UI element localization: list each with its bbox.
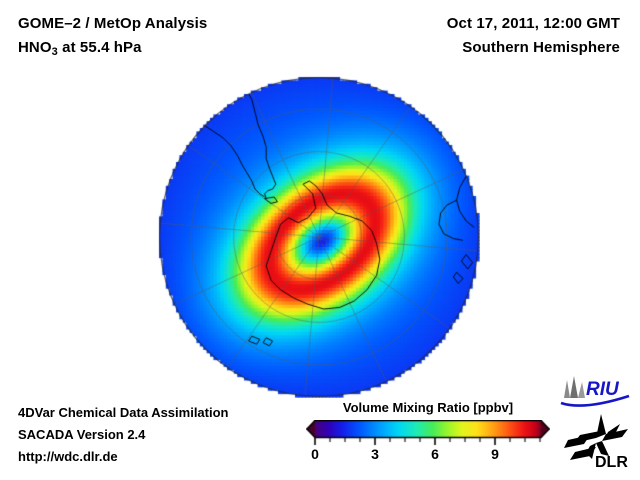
colorbar-tick-labels: 0369 [306, 446, 550, 468]
header-right-block: Oct 17, 2011, 12:00 GMT Southern Hemisph… [290, 12, 620, 60]
timestamp-label: Oct 17, 2011, 12:00 GMT [290, 12, 620, 36]
riu-logo: RIU [558, 374, 632, 408]
colorbar-tick-9: 9 [491, 446, 499, 462]
colorbar-tick-6: 6 [431, 446, 439, 462]
dlr-logo-icon: DLR [562, 412, 632, 470]
species-name: HNO [18, 39, 52, 56]
dlr-logo: DLR [562, 412, 632, 470]
colorbar-gradient [306, 420, 550, 446]
polar-map [158, 76, 480, 398]
riu-wordmark: RIU [586, 379, 620, 400]
polar-map-canvas [158, 76, 480, 398]
species-subscript: 3 [52, 46, 58, 58]
method-label: 4DVar Chemical Data Assimilation [18, 402, 318, 424]
colorbar-title: Volume Mixing Ratio [ppbv] [306, 400, 550, 415]
hemisphere-label: Southern Hemisphere [290, 36, 620, 60]
riu-logo-icon: RIU [558, 374, 632, 408]
dlr-wordmark: DLR [595, 454, 628, 470]
colorbar-tick-0: 0 [311, 446, 319, 462]
colorbar-tick-3: 3 [371, 446, 379, 462]
riu-spikes-icon [564, 376, 585, 398]
version-label: SACADA Version 2.4 [18, 424, 318, 446]
pressure-level: at 55.4 hPa [58, 39, 142, 56]
colorbar: Volume Mixing Ratio [ppbv] 0369 [306, 400, 550, 472]
website-url: http://wdc.dlr.de [18, 446, 318, 468]
footer-text-block: 4DVar Chemical Data Assimilation SACADA … [18, 402, 318, 468]
